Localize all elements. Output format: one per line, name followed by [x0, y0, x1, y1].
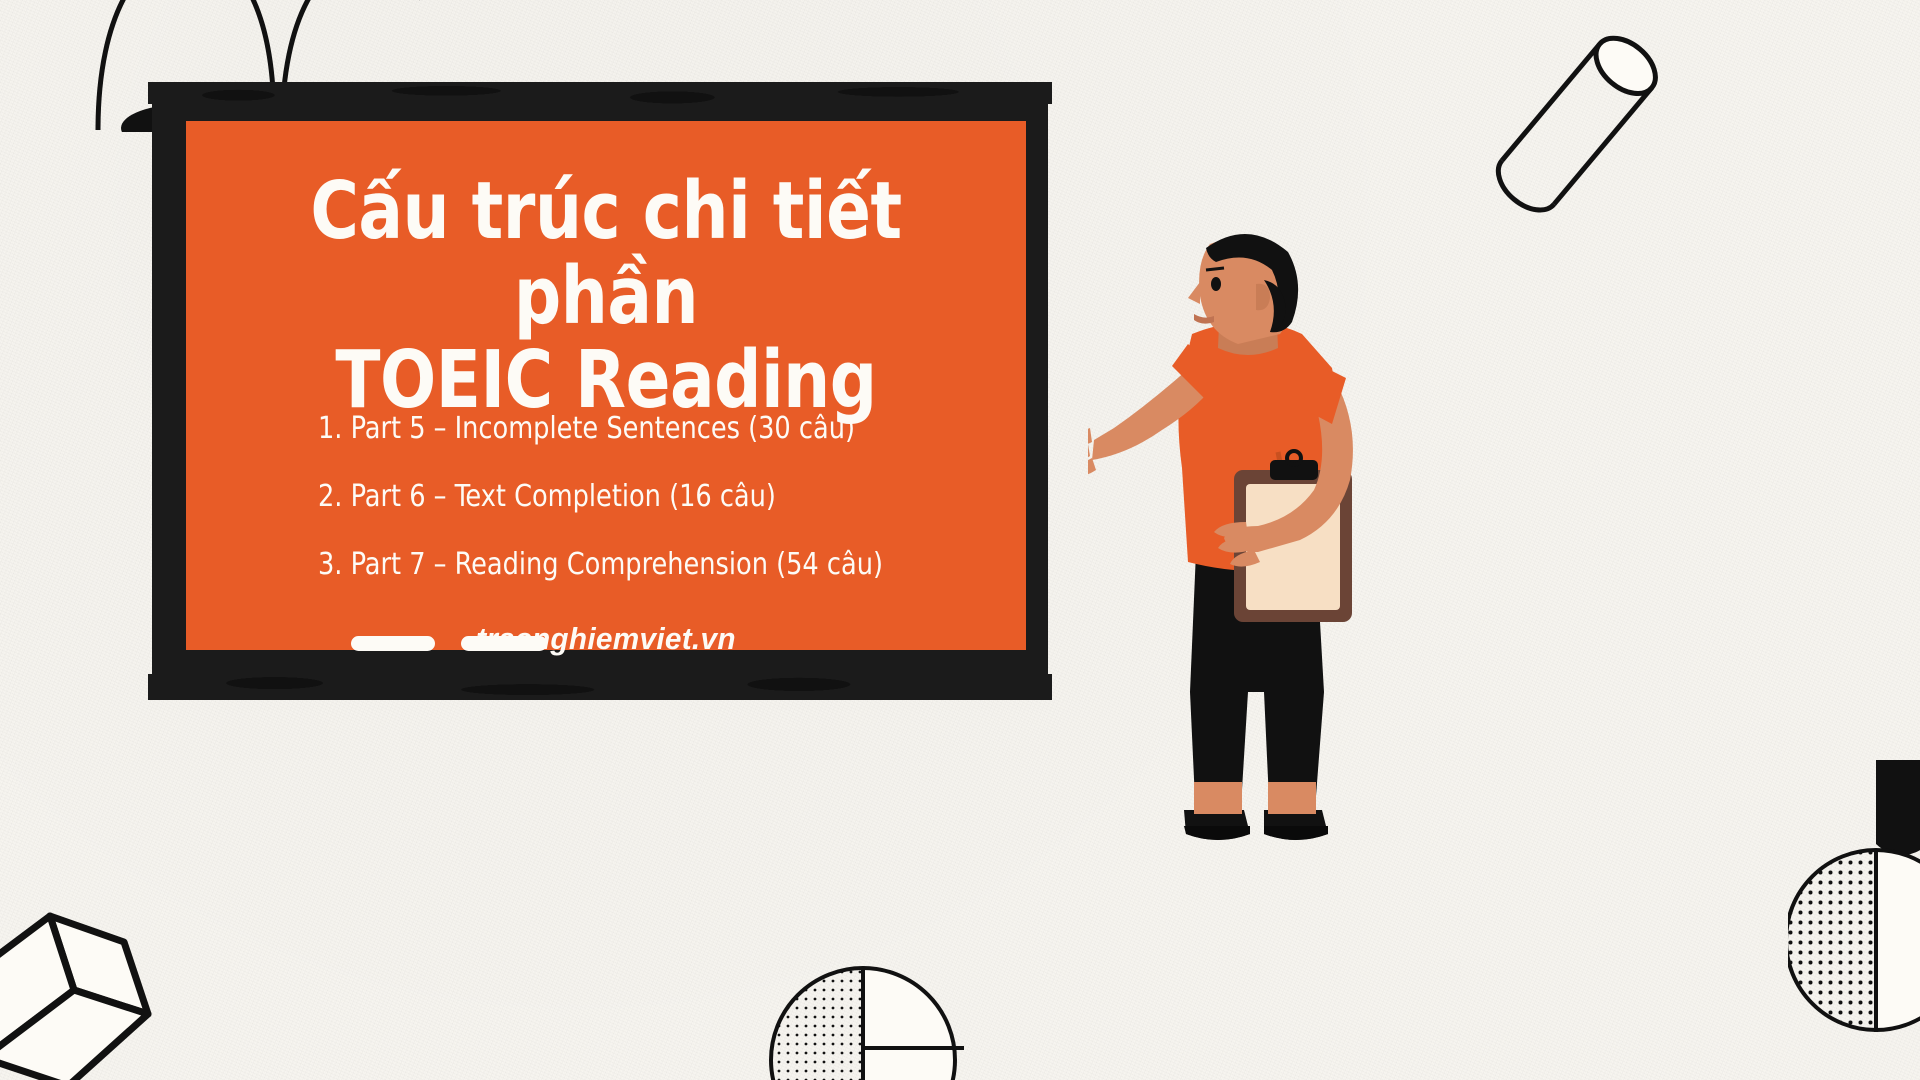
poster-canvas: Cấu trúc chi tiết phần TOEIC Reading 1. … [0, 0, 1920, 1080]
list-item: 2. Part 6 – Text Completion (16 câu) [318, 479, 883, 514]
teacher-illustration [1088, 222, 1418, 842]
half-dotted-circle-icon [768, 952, 964, 1080]
eye [1211, 277, 1221, 291]
board-surface: Cấu trúc chi tiết phần TOEIC Reading 1. … [186, 121, 1026, 650]
list-item: 1. Part 5 – Incomplete Sentences (30 câu… [318, 411, 883, 446]
website-watermark: tracnghiemviet.vn [203, 621, 1009, 657]
list-item: 3. Part 7 – Reading Comprehension (54 câ… [318, 547, 883, 582]
chalk-stick-icon [351, 636, 435, 651]
presentation-board: Cấu trúc chi tiết phần TOEIC Reading 1. … [152, 88, 1048, 692]
shoes [1184, 810, 1328, 840]
part-list: 1. Part 5 – Incomplete Sentences (30 câu… [318, 411, 883, 615]
cylinder-icon [1448, 14, 1708, 244]
page-title: Cấu trúc chi tiết phần TOEIC Reading [215, 169, 996, 423]
chalk-stick-icon [461, 636, 547, 651]
dotted-circle-quarter-icon [1788, 760, 1920, 1080]
box-prism-icon [0, 878, 222, 1080]
